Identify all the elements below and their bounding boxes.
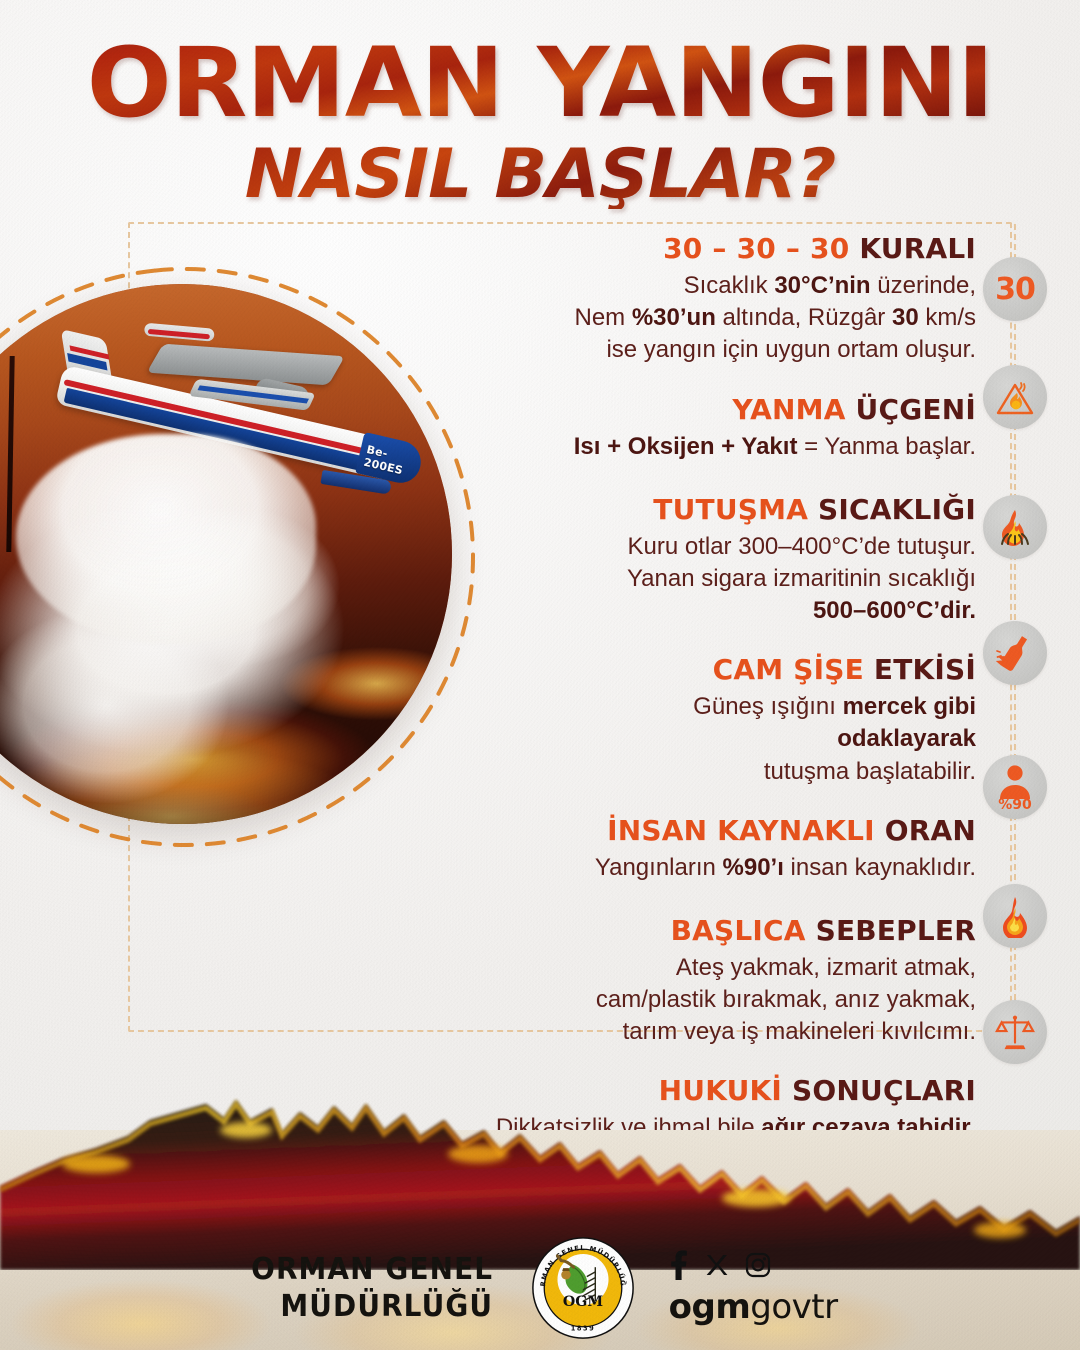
- flame-grass-glyph: [993, 505, 1037, 549]
- wildfire-aircraft-photo: Be-200ES: [0, 284, 452, 824]
- page-title: ORMAN YANGINI: [0, 38, 1080, 129]
- instagram-icon[interactable]: [745, 1252, 771, 1278]
- fire-flame-icon: [983, 884, 1047, 948]
- item-heading: TUTUŞMA SICAKLIĞI: [470, 493, 976, 526]
- flammable-triangle-icon: [983, 365, 1047, 429]
- photo-fire-glow: [0, 634, 452, 824]
- item-heading: İNSAN KAYNAKLI ORAN: [470, 814, 976, 847]
- item-body: Güneş ışığını mercek gibiodaklayaraktutu…: [470, 691, 976, 787]
- item-heading-rest: SEBEPLER: [806, 914, 976, 947]
- item-heading: 30 – 30 – 30 KURALI: [470, 232, 976, 265]
- page-subtitle: NASIL BAŞLAR?: [0, 141, 1080, 209]
- list-item-glass-bottle-effect: CAM ŞİŞE ETKİSİ Güneş ışığını mercek gib…: [470, 653, 976, 788]
- list-item-ignition-temperature: TUTUŞMA SICAKLIĞI Kuru otlar 300–400°C’d…: [470, 493, 976, 628]
- social-icon-row: [669, 1249, 838, 1281]
- aircraft-main-wing: [147, 344, 345, 386]
- icon-value-30: 30: [995, 272, 1035, 307]
- broken-bottle-glyph: [993, 631, 1037, 675]
- social-handle[interactable]: ogmgovtr: [669, 1287, 838, 1327]
- person-percent-icon: %90: [983, 755, 1047, 819]
- item-heading-highlight: 30 – 30 – 30: [663, 232, 849, 265]
- item-heading-highlight: BAŞLICA: [671, 914, 806, 947]
- item-body: Yangınların %90’ı insan kaynaklıdır.: [470, 852, 976, 884]
- fire-flame-glyph: [993, 894, 1037, 938]
- ogm-logo-glyph: ORMAN GENEL MÜDÜRLÜĞÜ OGM 1839: [531, 1236, 635, 1340]
- org-line-2: MÜDÜRLÜĞÜ: [251, 1288, 493, 1325]
- list-item-main-causes: BAŞLICA SEBEPLER Ateş yakmak, izmarit at…: [470, 914, 976, 1049]
- item-heading: YANMA ÜÇGENİ: [470, 393, 976, 426]
- item-heading-rest: SICAKLIĞI: [808, 493, 976, 526]
- facebook-icon[interactable]: [669, 1250, 689, 1280]
- number-30-icon: 30: [983, 257, 1047, 321]
- item-heading-highlight: YANMA: [732, 393, 845, 426]
- logo-monogram: OGM: [563, 1294, 603, 1310]
- item-heading-rest: KURALI: [849, 232, 976, 265]
- item-body: Isı + Oksijen + Yakıt = Yanma başlar.: [470, 431, 976, 463]
- handle-rest: govtr: [750, 1287, 837, 1327]
- list-item-30-rule: 30 – 30 – 30 KURALI Sıcaklık 30°C’nin üz…: [470, 232, 976, 367]
- item-body: Sıcaklık 30°C’nin üzerinde,Nem %30’un al…: [470, 270, 976, 366]
- poster-header: ORMAN YANGINI NASIL BAŞLAR?: [0, 38, 1080, 209]
- facts-list: 30 – 30 – 30 KURALI Sıcaklık 30°C’nin üz…: [470, 232, 976, 1145]
- water-drop-plume: [16, 434, 316, 644]
- organization-name: ORMAN GENEL MÜDÜRLÜĞÜ: [251, 1251, 493, 1325]
- list-item-human-caused-ratio: İNSAN KAYNAKLI ORAN Yangınların %90’ı in…: [470, 814, 976, 884]
- item-heading-rest: ETKİSİ: [864, 653, 976, 686]
- item-heading-highlight: İNSAN KAYNAKLI: [607, 814, 875, 847]
- item-heading: CAM ŞİŞE ETKİSİ: [470, 653, 976, 686]
- justice-scales-icon: [983, 1000, 1047, 1064]
- item-heading-rest: ÜÇGENİ: [846, 393, 976, 426]
- item-body: Ateş yakmak, izmarit atmak,cam/plastik b…: [470, 952, 976, 1048]
- item-heading-highlight: TUTUŞMA: [653, 493, 808, 526]
- social-block: ogmgovtr: [669, 1249, 838, 1327]
- item-heading-highlight: CAM ŞİŞE: [713, 653, 864, 686]
- item-heading-rest: ORAN: [875, 814, 976, 847]
- flammable-triangle-glyph: [993, 375, 1037, 419]
- infographic-poster: ORMAN YANGINI NASIL BAŞLAR? Be-200ES: [0, 0, 1080, 1350]
- handle-bold: ogm: [669, 1287, 751, 1327]
- justice-scales-glyph: [994, 1011, 1036, 1053]
- item-body: Kuru otlar 300–400°C’de tutuşur.Yanan si…: [470, 531, 976, 627]
- broken-bottle-icon: [983, 621, 1047, 685]
- flame-grass-icon: [983, 495, 1047, 559]
- logo-year: 1839: [570, 1325, 594, 1333]
- item-heading: BAŞLICA SEBEPLER: [470, 914, 976, 947]
- poster-footer: ORMAN GENEL MÜDÜRLÜĞÜ ORMAN GENEL MÜDÜRL…: [0, 1238, 1080, 1338]
- org-line-1: ORMAN GENEL: [251, 1251, 493, 1288]
- ogm-logo: ORMAN GENEL MÜDÜRLÜĞÜ OGM 1839: [531, 1236, 635, 1340]
- x-twitter-icon[interactable]: [705, 1253, 729, 1277]
- icon-value-percent-90: %90: [983, 797, 1047, 813]
- list-item-combustion-triangle: YANMA ÜÇGENİ Isı + Oksijen + Yakıt = Yan…: [470, 393, 976, 463]
